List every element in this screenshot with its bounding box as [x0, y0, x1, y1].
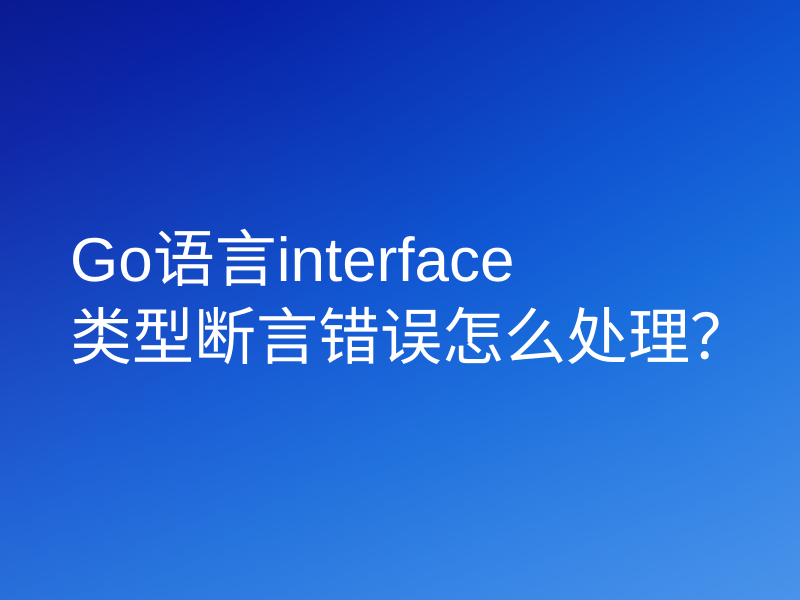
title-line-2: 类型断言错误怎么处理？ [70, 300, 760, 378]
page-title: Go语言interface 类型断言错误怎么处理？ [70, 222, 760, 378]
title-line-1: Go语言interface [70, 222, 760, 300]
title-banner: Go语言interface 类型断言错误怎么处理？ [0, 0, 800, 600]
